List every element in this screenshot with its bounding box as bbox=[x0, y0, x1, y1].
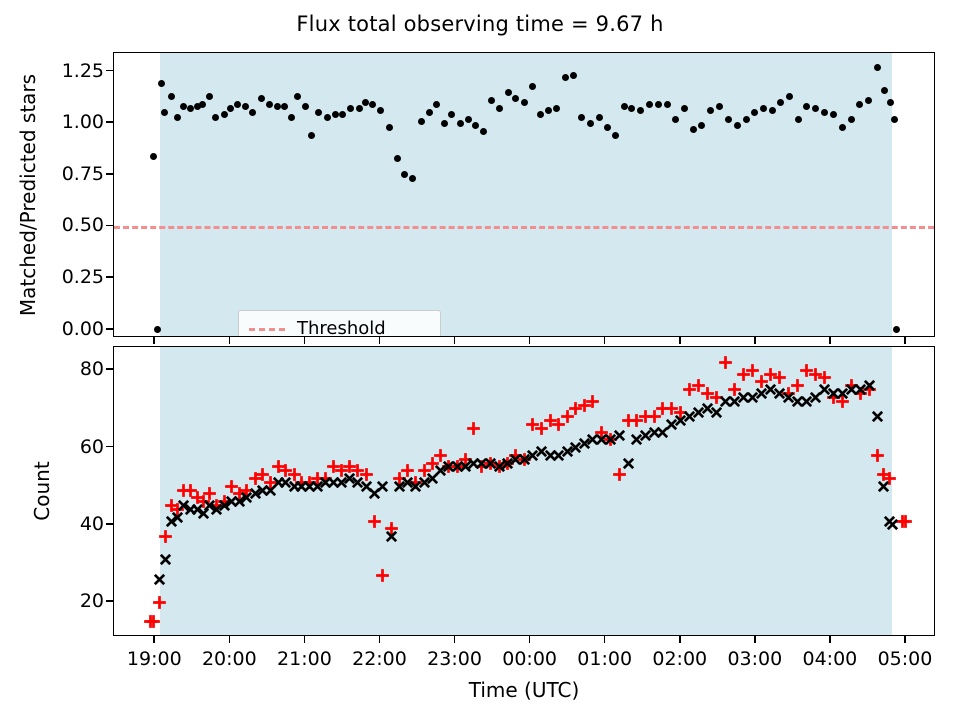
x-axis-tick-mark bbox=[229, 337, 231, 344]
measurement-point bbox=[743, 116, 750, 123]
measurement-point bbox=[206, 93, 213, 100]
y-axis-tick-mark bbox=[106, 523, 113, 525]
top-panel-ylabel: Matched/Predicted stars bbox=[16, 35, 40, 355]
measurement-point bbox=[529, 83, 536, 90]
measurement-point bbox=[242, 103, 249, 110]
y-axis-tick-mark bbox=[106, 173, 113, 175]
x-axis-tick-mark bbox=[829, 337, 831, 344]
measurement-point bbox=[174, 114, 181, 121]
observing-window-shading bbox=[160, 347, 893, 635]
measurement-point bbox=[646, 101, 653, 108]
x-axis-tick-label: 03:00 bbox=[727, 648, 782, 670]
legend-item-threshold[interactable]: Threshold bbox=[247, 317, 430, 337]
measurement-point bbox=[786, 93, 793, 100]
measurement-point bbox=[865, 97, 872, 104]
x-axis-tick-mark bbox=[304, 636, 306, 643]
x-axis-tick-mark bbox=[379, 337, 381, 344]
y-axis-tick-mark bbox=[106, 368, 113, 370]
x-axis-tick-mark bbox=[904, 636, 906, 643]
x-axis-tick-label: 22:00 bbox=[352, 648, 407, 670]
bottom-panel-axes: Matched stars Predicted stars bbox=[113, 346, 935, 636]
measurement-point bbox=[362, 99, 369, 106]
measurement-point bbox=[480, 128, 487, 135]
x-axis-tick-mark bbox=[229, 636, 231, 643]
x-axis-tick-label: 21:00 bbox=[277, 648, 332, 670]
measurement-point bbox=[637, 107, 644, 114]
matched-star-point bbox=[898, 514, 913, 529]
figure-canvas: Flux total observing time = 9.67 h Thres… bbox=[0, 0, 960, 720]
x-axis-tick-mark bbox=[379, 636, 381, 643]
x-axis-tick-mark bbox=[604, 337, 606, 344]
x-axis-tick-label: 04:00 bbox=[803, 648, 858, 670]
measurement-point bbox=[512, 95, 519, 102]
x-axis-tick-mark bbox=[454, 337, 456, 344]
y-axis-tick-mark bbox=[106, 600, 113, 602]
x-axis-tick-mark bbox=[679, 636, 681, 643]
x-axis-tick-label: 20:00 bbox=[202, 648, 257, 670]
bottom-panel-ylabel: Count bbox=[30, 391, 54, 591]
x-axis-tick-mark bbox=[754, 337, 756, 344]
x-axis-tick-mark bbox=[529, 337, 531, 344]
y-axis-tick-mark bbox=[106, 70, 113, 72]
measurement-point bbox=[655, 101, 662, 108]
measurement-point bbox=[690, 126, 697, 133]
measurement-point bbox=[672, 116, 679, 123]
measurement-point bbox=[465, 116, 472, 123]
measurement-point bbox=[266, 101, 273, 108]
dashed-line-key-icon bbox=[247, 319, 287, 337]
y-axis-tick-mark bbox=[106, 328, 113, 330]
measurement-point bbox=[795, 116, 802, 123]
measurement-point bbox=[394, 155, 401, 162]
measurement-point bbox=[891, 116, 898, 123]
y-axis-tick-label: 40 bbox=[0, 513, 113, 535]
measurement-point bbox=[856, 101, 863, 108]
measurement-point bbox=[386, 124, 393, 131]
y-axis-tick-label: 60 bbox=[0, 436, 113, 458]
measurement-point bbox=[612, 132, 619, 139]
measurement-point bbox=[578, 114, 585, 121]
matched-star-point bbox=[146, 614, 161, 629]
matched-star-point bbox=[895, 514, 910, 529]
y-axis-tick-label: 20 bbox=[0, 590, 113, 612]
measurement-point bbox=[288, 114, 295, 121]
measurement-point bbox=[893, 326, 900, 333]
measurement-point bbox=[441, 120, 448, 127]
x-axis-tick-mark bbox=[829, 636, 831, 643]
measurement-point bbox=[505, 89, 512, 96]
x-axis-tick-label: 19:00 bbox=[127, 648, 182, 670]
matched-star-point bbox=[143, 614, 158, 629]
x-axis-tick-mark bbox=[904, 337, 906, 344]
measurement-point bbox=[212, 114, 219, 121]
measurement-point bbox=[725, 116, 732, 123]
measurement-point bbox=[496, 105, 503, 112]
measurement-point bbox=[308, 132, 315, 139]
x-axis-tick-mark bbox=[153, 636, 155, 643]
measurement-point bbox=[848, 116, 855, 123]
top-panel-legend[interactable]: Threshold Measurements bbox=[238, 310, 441, 337]
measurement-point bbox=[457, 120, 464, 127]
y-axis-tick-mark bbox=[106, 225, 113, 227]
x-axis-tick-label: 01:00 bbox=[577, 648, 632, 670]
x-axis-tick-label: 23:00 bbox=[427, 648, 482, 670]
measurement-point bbox=[418, 118, 425, 125]
x-axis-tick-mark bbox=[529, 636, 531, 643]
x-axis-tick-mark bbox=[153, 337, 155, 344]
measurement-point bbox=[664, 101, 671, 108]
page-title: Flux total observing time = 9.67 h bbox=[0, 12, 960, 36]
y-axis-tick-mark bbox=[106, 446, 113, 448]
measurement-point bbox=[562, 74, 569, 81]
top-panel-axes: Threshold Measurements bbox=[113, 52, 935, 337]
measurement-point bbox=[734, 122, 741, 129]
x-axis-tick-mark bbox=[679, 337, 681, 344]
measurement-point bbox=[324, 114, 331, 121]
measurement-point bbox=[874, 64, 881, 71]
measurement-point bbox=[150, 153, 157, 160]
x-axis-tick-mark bbox=[304, 337, 306, 344]
measurement-point bbox=[887, 99, 894, 106]
measurement-point bbox=[596, 114, 603, 121]
x-axis-tick-mark bbox=[454, 636, 456, 643]
measurement-point bbox=[839, 124, 846, 131]
xaxis-label: Time (UTC) bbox=[113, 678, 935, 702]
threshold-line bbox=[114, 226, 934, 229]
y-axis-tick-mark bbox=[106, 276, 113, 278]
x-axis-tick-label: 02:00 bbox=[652, 648, 707, 670]
x-axis-tick-mark bbox=[754, 636, 756, 643]
x-axis-tick-label: 00:00 bbox=[502, 648, 557, 670]
legend-label-threshold: Threshold bbox=[297, 317, 386, 337]
x-axis-tick-label: 05:00 bbox=[878, 648, 933, 670]
observing-window-shading bbox=[160, 53, 893, 336]
measurement-point bbox=[587, 120, 594, 127]
y-axis-tick-mark bbox=[106, 121, 113, 123]
x-axis-tick-mark bbox=[604, 636, 606, 643]
y-axis-tick-label: 80 bbox=[0, 358, 113, 380]
